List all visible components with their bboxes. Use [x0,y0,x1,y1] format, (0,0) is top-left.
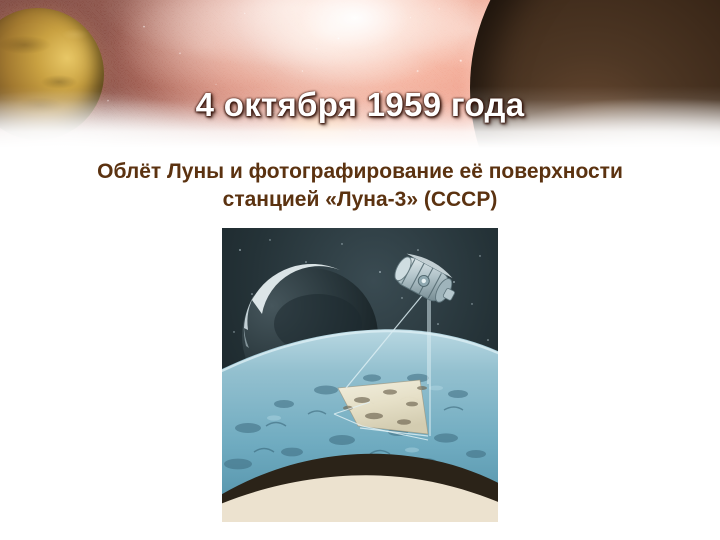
slide-title: 4 октября 1959 года [0,86,720,124]
slide-subtitle-line-1: Облёт Луны и фотографирование её поверхн… [16,158,704,186]
presentation-slide: 4 октября 1959 года Облёт Луны и фотогра… [0,0,720,540]
luna-3-lunar-flyby-illustration [222,228,498,522]
space-nebula-banner [0,0,720,148]
slide-subtitle-line-2: станцией «Луна-3» (СССР) [16,186,704,214]
illustration-artwork [222,228,498,522]
slide-subtitle: Облёт Луны и фотографирование её поверхн… [16,158,704,214]
